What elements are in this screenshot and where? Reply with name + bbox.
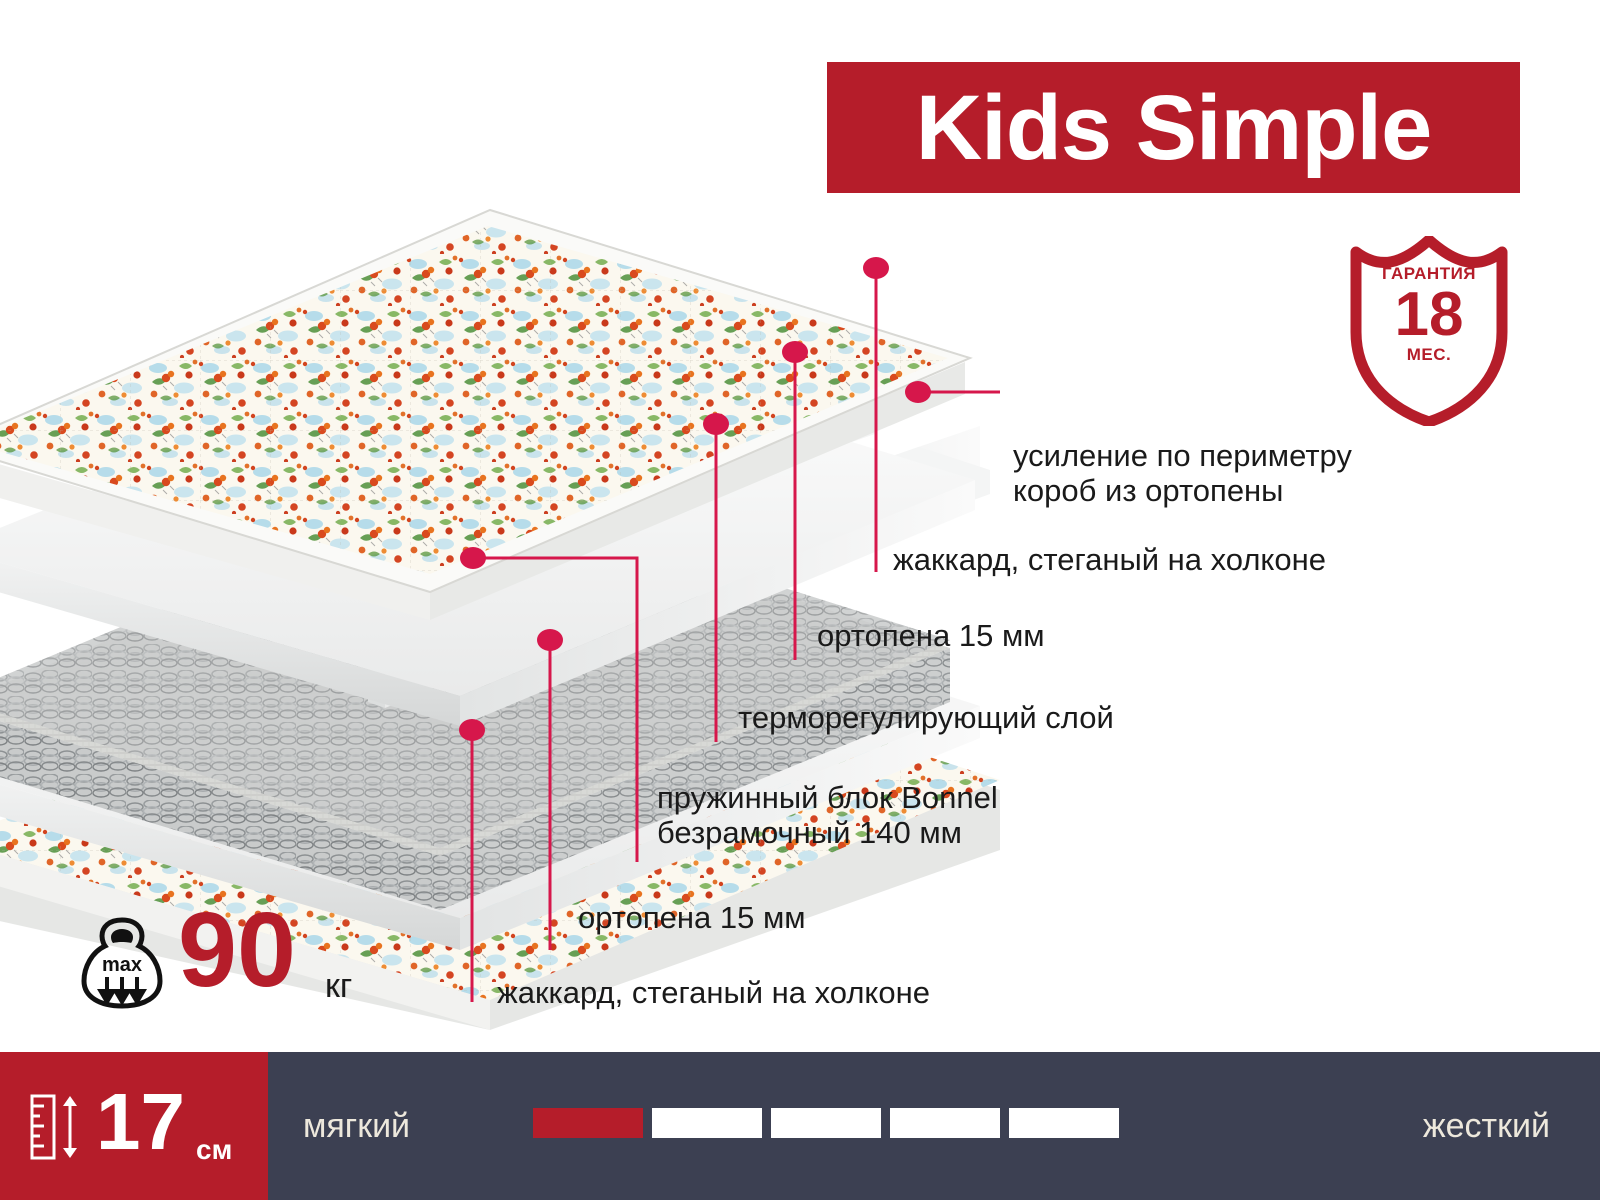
kettlebell-icon: max: [80, 915, 164, 1010]
warranty-badge: ГАРАНТИЯ 18 МЕС.: [1350, 236, 1508, 426]
height-value: 17: [96, 1082, 185, 1162]
kettlebell-max-text: max: [102, 954, 142, 976]
ruler-icon: [30, 1094, 82, 1160]
height-spec: 17 см: [0, 1052, 268, 1200]
firmness-scale: мягкий жесткий: [268, 1052, 1600, 1200]
firmness-hard-label: жесткий: [1423, 1107, 1550, 1146]
mattress-exploded-illustration: [0, 150, 1000, 1030]
callout-label-spring-block: пружинный блок Bonnel безрамочный 140 мм: [657, 780, 998, 851]
firmness-segment-4: [890, 1108, 1000, 1138]
callout-label-jacquard-top: жаккард, стеганый на холконе: [893, 542, 1326, 577]
height-unit: см: [196, 1134, 232, 1166]
warranty-unit-label: МЕС.: [1407, 345, 1452, 365]
bottom-spec-bar: 17 см мягкий жесткий: [0, 1052, 1600, 1200]
callout-label-ortofoam-bottom: ортопена 15 мм: [578, 900, 806, 935]
warranty-months-number: 18: [1395, 286, 1464, 345]
callout-label-jacquard-bottom: жаккард, стеганый на холконе: [497, 975, 930, 1010]
firmness-soft-label: мягкий: [303, 1107, 410, 1146]
max-weight-unit: кг: [325, 967, 352, 1006]
firmness-segments: [533, 1108, 1119, 1138]
callout-label-thermo-layer: терморегулирующий слой: [738, 700, 1114, 735]
max-weight-badge: max 90 кг: [80, 905, 380, 1015]
firmness-segment-3: [771, 1108, 881, 1138]
callout-label-ortofoam-top: ортопена 15 мм: [817, 618, 1045, 653]
firmness-segment-2: [652, 1108, 762, 1138]
callout-label-perimeter-reinforcement: усиление по периметру короб из ортопены: [1013, 438, 1352, 509]
firmness-segment-5: [1009, 1108, 1119, 1138]
firmness-segment-1: [533, 1108, 643, 1138]
max-weight-value: 90: [178, 897, 296, 1003]
